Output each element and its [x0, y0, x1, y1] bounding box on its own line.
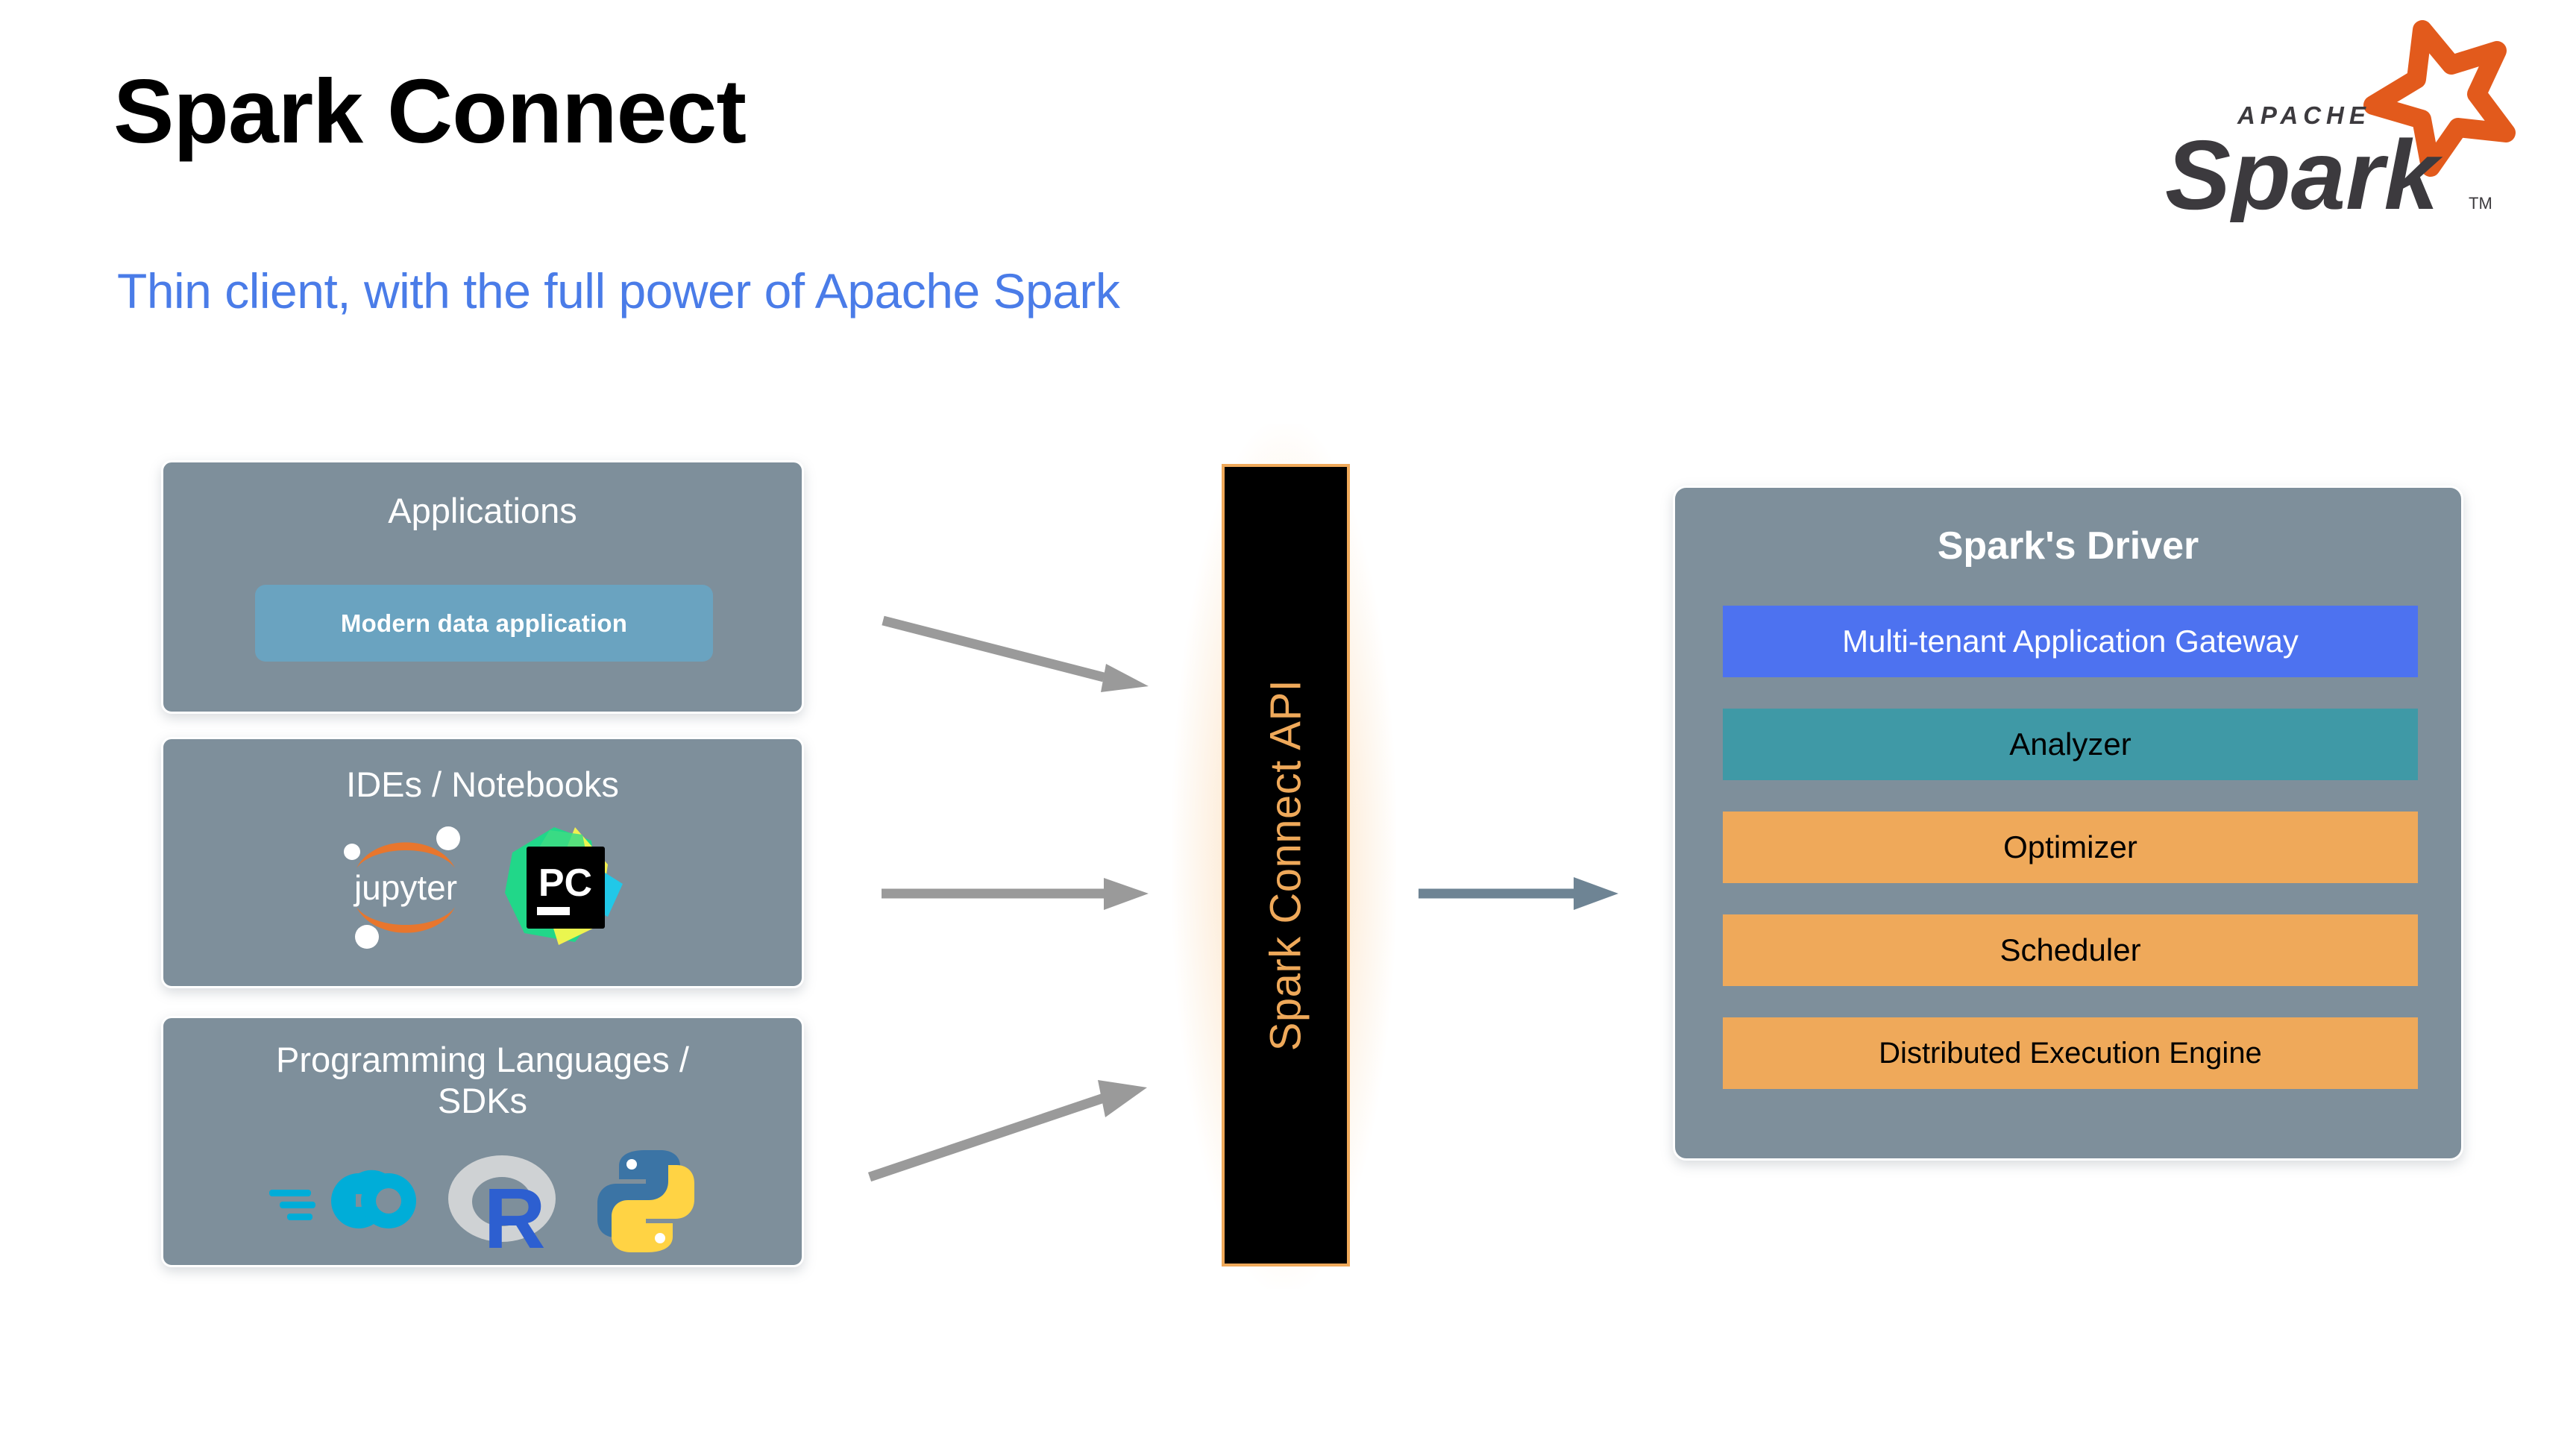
- arrow-languages-to-api: [865, 1044, 1178, 1193]
- driver-row-analyzer[interactable]: Analyzer: [1723, 709, 2418, 780]
- driver-component-list: Multi-tenant Application Gateway Analyze…: [1723, 606, 2418, 1089]
- page-title: Spark Connect: [113, 63, 746, 159]
- driver-row-gateway[interactable]: Multi-tenant Application Gateway: [1723, 606, 2418, 677]
- card-spark-driver[interactable]: Spark's Driver Multi-tenant Application …: [1673, 486, 2463, 1161]
- ides-logo-row: jupyter PC: [163, 819, 802, 953]
- card-languages-title-line2: SDKs: [163, 1080, 802, 1121]
- pycharm-underscore-bar: [537, 907, 570, 915]
- logo-trademark: TM: [2469, 194, 2492, 213]
- arrow-applications-to-api: [880, 612, 1178, 731]
- languages-logo-row: GO R: [163, 1145, 802, 1257]
- card-languages-title-line1: Programming Languages /: [163, 1039, 802, 1080]
- r-letter: R: [483, 1171, 545, 1257]
- jupyter-wordmark: jupyter: [353, 868, 457, 907]
- pycharm-logo: PC: [503, 821, 630, 952]
- driver-row-optimizer[interactable]: Optimizer: [1723, 812, 2418, 883]
- logo-spark-word: Spark: [2165, 120, 2443, 222]
- modern-data-application-pill[interactable]: Modern data application: [255, 585, 713, 662]
- card-languages-title: Programming Languages / SDKs: [163, 1039, 802, 1122]
- page-subtitle: Thin client, with the full power of Apac…: [117, 263, 1119, 319]
- card-applications[interactable]: Applications Modern data application: [161, 460, 804, 714]
- arrow-ides-to-api: [880, 858, 1178, 932]
- pycharm-pc-label: PC: [538, 861, 592, 905]
- driver-row-distributed-execution-engine[interactable]: Distributed Execution Engine: [1723, 1017, 2418, 1089]
- card-programming-languages[interactable]: Programming Languages / SDKs GO: [161, 1016, 804, 1267]
- spark-connect-api-label: Spark Connect API: [1261, 679, 1311, 1052]
- arrow-api-to-driver: [1417, 858, 1663, 932]
- go-logo: GO: [268, 1157, 417, 1245]
- spark-connect-api-bar[interactable]: Spark Connect API: [1222, 464, 1350, 1266]
- r-logo: R: [444, 1145, 567, 1257]
- card-ides-notebooks[interactable]: IDEs / Notebooks jupyter: [161, 737, 804, 988]
- apache-spark-logo: APACHE Spark TM: [2129, 13, 2517, 222]
- card-ides-title: IDEs / Notebooks: [163, 764, 802, 805]
- card-applications-title: Applications: [163, 490, 802, 531]
- driver-row-scheduler[interactable]: Scheduler: [1723, 914, 2418, 986]
- spark-driver-title: Spark's Driver: [1675, 524, 2461, 569]
- jupyter-logo: jupyter: [335, 819, 477, 953]
- python-logo: [594, 1147, 698, 1255]
